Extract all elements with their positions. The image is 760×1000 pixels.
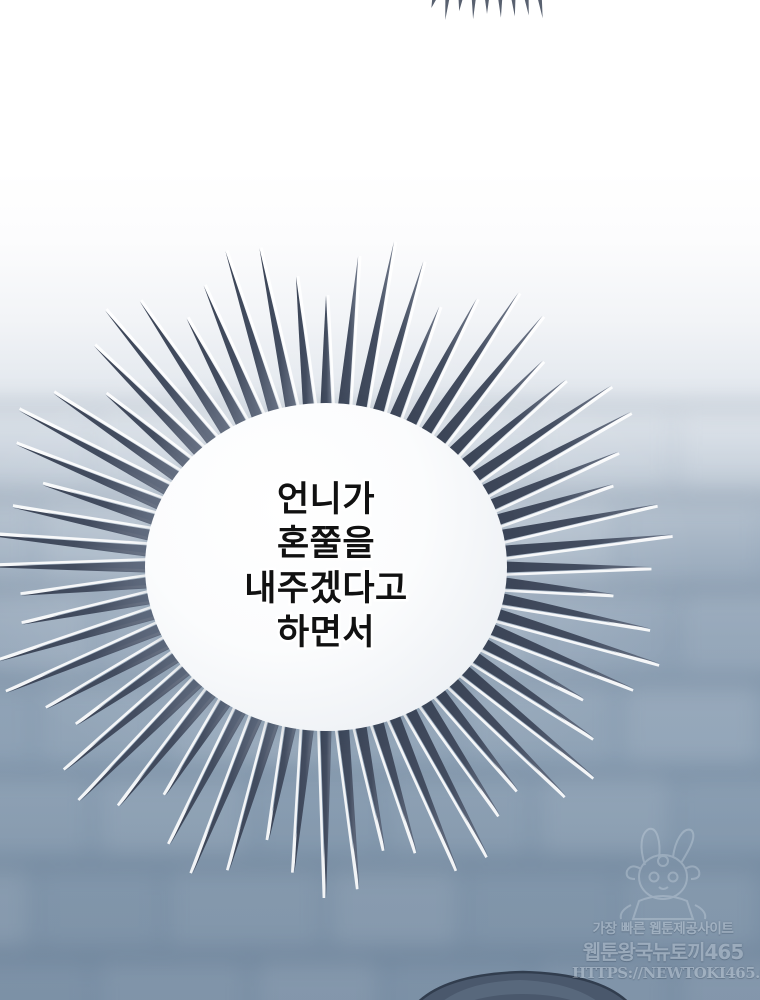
bubble-line-1: 언니가 (277, 480, 375, 521)
character-head (398, 968, 648, 1000)
bubble-line-2: 혼쭐을 (277, 524, 375, 565)
webtoon-panel: 언니가 혼쭐을 내주겠다고 하면서 (0, 0, 760, 1000)
bubble-line-3: 내주겠다고 (244, 569, 408, 610)
speech-bubble-text: 언니가 혼쭐을 내주겠다고 하면서 (145, 403, 507, 731)
bubble-line-4: 하면서 (277, 613, 375, 654)
